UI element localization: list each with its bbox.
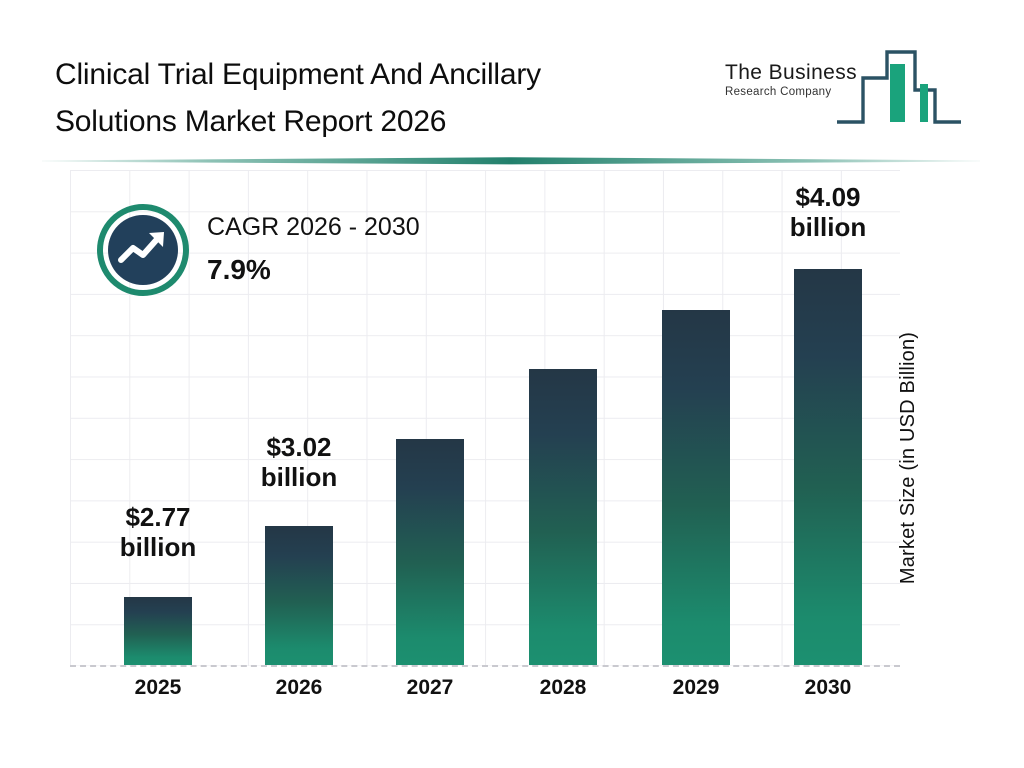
x-tick-2025: 2025: [98, 676, 218, 700]
cagr-label: CAGR 2026 - 2030: [207, 214, 420, 242]
page-title-line-1: Clinical Trial Equipment And Ancillary: [55, 52, 715, 99]
chart-baseline: [70, 665, 900, 667]
value-label-2025-amount: $2.77: [125, 502, 190, 532]
x-tick-2028: 2028: [503, 676, 623, 700]
bar-2029[interactable]: [662, 310, 730, 665]
value-label-2025: $2.77 billion: [98, 502, 218, 562]
cagr-icon-circle: [97, 204, 189, 296]
value-label-2026: $3.02 billion: [239, 432, 359, 492]
bar-2025[interactable]: [124, 597, 192, 665]
bar-2028[interactable]: [529, 369, 597, 665]
bar-2026[interactable]: [265, 526, 333, 665]
x-tick-2029: 2029: [636, 676, 756, 700]
cagr-badge: CAGR 2026 - 2030 7.9%: [97, 204, 517, 314]
x-tick-2027: 2027: [370, 676, 490, 700]
value-label-2030-unit: billion: [790, 212, 867, 242]
company-logo: The Business Research Company: [725, 38, 965, 134]
y-axis-title-text: Market Size (in USD Billion): [897, 268, 920, 648]
x-axis: 2025 2026 2027 2028 2029 2030: [70, 676, 900, 712]
cagr-value: 7.9%: [207, 254, 420, 286]
x-tick-2026: 2026: [239, 676, 359, 700]
y-axis-title: Market Size (in USD Billion): [897, 0, 927, 268]
bar-2027[interactable]: [396, 439, 464, 665]
bar-2030[interactable]: [794, 269, 862, 665]
value-label-2030: $4.09 billion: [768, 182, 888, 242]
value-label-2026-amount: $3.02: [266, 432, 331, 462]
cagr-text-block: CAGR 2026 - 2030 7.9%: [207, 214, 420, 286]
page-title-line-2: Solutions Market Report 2026: [55, 99, 715, 146]
value-label-2025-unit: billion: [120, 532, 197, 562]
value-label-2030-amount: $4.09: [795, 182, 860, 212]
header-divider: [42, 154, 980, 166]
slide-canvas: Clinical Trial Equipment And Ancillary S…: [0, 0, 1024, 768]
value-label-2026-unit: billion: [261, 462, 338, 492]
x-tick-2030: 2030: [768, 676, 888, 700]
page-title: Clinical Trial Equipment And Ancillary S…: [55, 52, 715, 145]
